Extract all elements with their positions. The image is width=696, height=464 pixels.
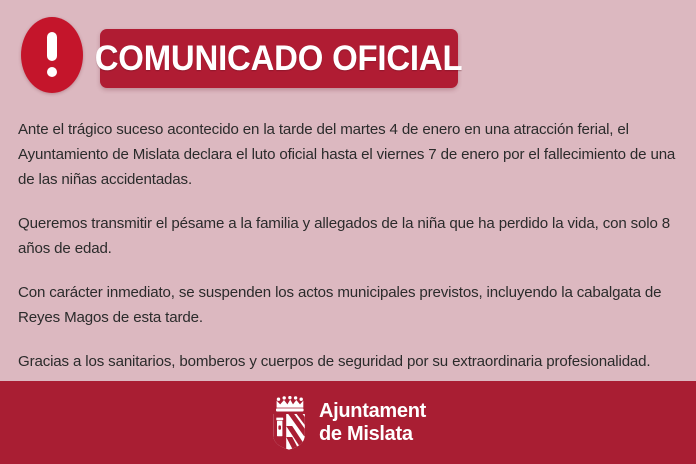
institution-wordmark: Ajuntament de Mislata [319, 400, 426, 446]
poster-header: COMUNICADO OFICIAL [0, 0, 696, 110]
institution-name-line-1: Ajuntament [319, 400, 426, 423]
statement-paragraph-1: Ante el trágico suceso acontecido en la … [18, 117, 680, 192]
official-statement-poster: COMUNICADO OFICIAL Ante el trágico suces… [0, 0, 696, 464]
exclamation-stem [47, 32, 57, 61]
institution-name-line-2: de Mislata [319, 423, 426, 446]
mislata-coat-of-arms-icon [270, 396, 308, 450]
statement-body: Ante el trágico suceso acontecido en la … [18, 117, 680, 374]
poster-footer: Ajuntament de Mislata [0, 381, 696, 464]
exclamation-dot [47, 67, 57, 77]
exclamation-circle-icon [21, 17, 83, 93]
title-banner: COMUNICADO OFICIAL [100, 29, 458, 88]
statement-paragraph-2: Queremos transmitir el pésame a la famil… [18, 211, 680, 261]
institution-logo: Ajuntament de Mislata [0, 381, 696, 464]
page-title: COMUNICADO OFICIAL [95, 41, 463, 76]
statement-paragraph-4: Gracias a los sanitarios, bomberos y cue… [18, 349, 680, 374]
statement-paragraph-3: Con carácter inmediato, se suspenden los… [18, 280, 680, 330]
